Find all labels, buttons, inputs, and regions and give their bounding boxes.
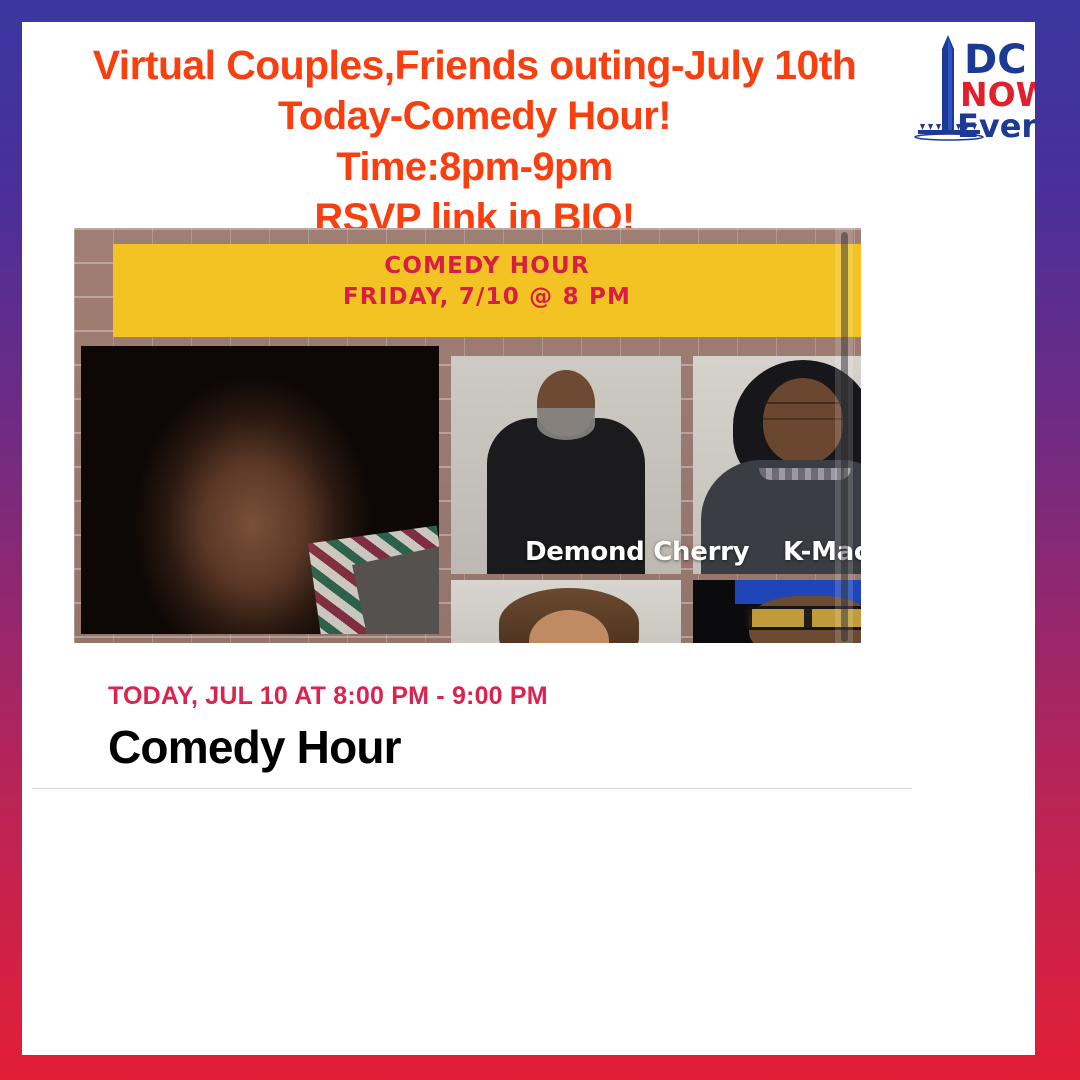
performer-photo-bottom-left <box>451 580 681 643</box>
headline-block: Virtual Couples,Friends outing-July 10th… <box>22 40 927 244</box>
section-divider <box>32 788 912 789</box>
flyer-title-banner: COMEDY HOUR FRIDAY, 7/10 @ 8 PM <box>113 244 861 337</box>
flyer-banner-line-2: FRIDAY, 7/10 @ 8 PM <box>113 282 861 313</box>
event-date-time: TODAY, JUL 10 AT 8:00 PM - 9:00 PM <box>108 682 548 711</box>
headline-line-1: Virtual Couples,Friends outing-July 10th <box>22 40 927 91</box>
event-title: Comedy Hour <box>108 720 401 774</box>
event-flyer-image[interactable]: COMEDY HOUR FRIDAY, 7/10 @ 8 PM Demond C… <box>74 228 861 643</box>
white-content-card: Virtual Couples,Friends outing-July 10th… <box>22 22 1035 1055</box>
performer-label-demond-cherry: Demond Cherry <box>525 537 749 567</box>
dc-now-events-logo: DC NOW Events <box>910 27 1035 152</box>
headline-line-2: Today-Comedy Hour! <box>22 91 927 142</box>
flyer-scrollbar-thumb[interactable] <box>841 232 848 642</box>
gradient-frame: Virtual Couples,Friends outing-July 10th… <box>0 0 1080 1080</box>
headline-line-3: Time:8pm-9pm <box>22 142 927 193</box>
performer-photo-main <box>81 346 439 634</box>
flyer-banner-line-1: COMEDY HOUR <box>113 251 861 282</box>
logo-events-text: Events <box>957 107 1035 145</box>
